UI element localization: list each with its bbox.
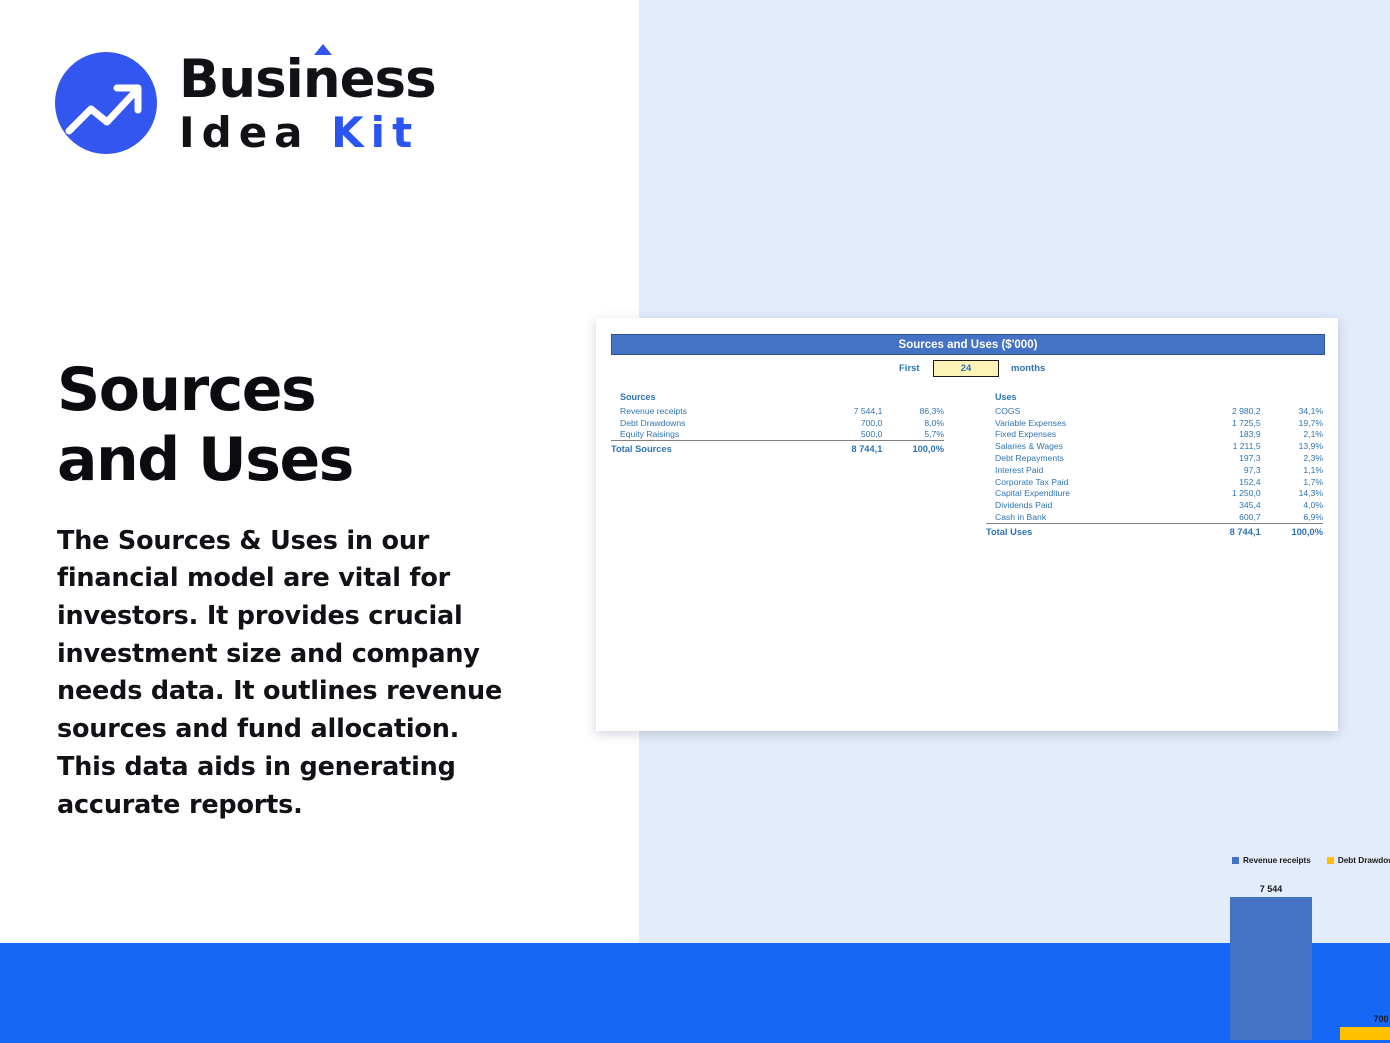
uses-row-9-value: 600,7 (1185, 511, 1260, 523)
sources-chart-legend: Revenue receiptsDebt DrawdownsEquity Rai… (1232, 856, 1390, 865)
uses-row-8-name: Dividends Paid (986, 499, 1185, 511)
brand-name-line2: Idea Kit (179, 112, 436, 154)
sources-row-2-value: 500,0 (808, 429, 883, 441)
table-row: Revenue receipts7 544,186,3% (611, 405, 944, 417)
uses-row-4-pct: 2,3% (1261, 452, 1323, 464)
page-title-line-2: and Uses (57, 426, 577, 496)
table-row: Cash in Bank600,76,9% (986, 511, 1323, 523)
period-selector-row: First 24 months (611, 360, 1323, 376)
uses-row-7-name: Capital Expenditure (986, 487, 1185, 499)
table-row: COGS2 980,234,1% (986, 405, 1323, 417)
sources-table-body: Revenue receipts7 544,186,3%Debt Drawdow… (611, 405, 944, 441)
uses-row-6-value: 152,4 (1185, 476, 1260, 488)
uses-row-1-pct: 19,7% (1261, 417, 1323, 429)
legend-swatch-icon (1327, 857, 1334, 864)
uses-row-6-pct: 1,7% (1261, 476, 1323, 488)
uptrend-arrow-icon (55, 52, 157, 154)
uses-row-0-name: COGS (986, 405, 1185, 417)
table-row: Salaries & Wages1 211,513,9% (986, 440, 1323, 452)
uses-row-9-name: Cash in Bank (986, 511, 1185, 523)
period-prefix-label: First (899, 363, 920, 374)
uses-row-3-name: Salaries & Wages (986, 440, 1185, 452)
uses-header-label: Uses (986, 392, 1185, 405)
uses-row-4-value: 197,3 (1185, 452, 1260, 464)
uses-row-2-value: 183,9 (1185, 429, 1260, 441)
page-title: Sourcesand Uses (57, 356, 577, 495)
slide-canvas: Business Idea Kit Sourcesand Uses The So… (0, 0, 1390, 1043)
uses-row-0-pct: 34,1% (1261, 405, 1323, 417)
sources-row-2-name: Equity Raisings (611, 429, 808, 441)
uses-row-1-value: 1 725,5 (1185, 417, 1260, 429)
bar-value-label: 7 544 (1260, 884, 1283, 894)
uses-row-6-name: Corporate Tax Paid (986, 476, 1185, 488)
table-row: Interest Paid97,31,1% (986, 464, 1323, 476)
uses-table: Uses COGS2 980,234,1%Variable Expenses1 … (986, 392, 1323, 538)
sources-bar-slot: 700 (1326, 878, 1390, 1040)
sources-row-0-name: Revenue receipts (611, 405, 808, 417)
sources-total-label: Total Sources (611, 441, 808, 455)
bottom-accent-band (0, 943, 1390, 1043)
sources-row-1-value: 700,0 (808, 417, 883, 429)
sources-total-pct: 100,0% (882, 441, 944, 455)
uses-row-2-pct: 2,1% (1261, 429, 1323, 441)
uses-row-7-pct: 14,3% (1261, 487, 1323, 499)
sources-bar-chart: 7 544700500 (1216, 878, 1390, 1040)
sources-legend-item[interactable]: Revenue receipts (1232, 856, 1311, 865)
sources-header-label: Sources (611, 392, 808, 405)
brand-name-idea: Idea (179, 108, 331, 157)
body-paragraph: The Sources & Uses in our financial mode… (57, 523, 507, 825)
legend-swatch-icon (1232, 857, 1239, 864)
table-row: Fixed Expenses183,92,1% (986, 429, 1323, 441)
uses-row-5-pct: 1,1% (1261, 464, 1323, 476)
sources-row-1-name: Debt Drawdowns (611, 417, 808, 429)
uses-total-row: Total Uses 8 744,1 100,0% (986, 523, 1323, 537)
bar-value-label: 700 (1373, 1014, 1388, 1024)
sources-row-2-pct: 5,7% (882, 429, 944, 441)
table-row: Debt Drawdowns700,08,0% (611, 417, 944, 429)
sources-total-value: 8 744,1 (808, 441, 883, 455)
page-title-line-1: Sources (57, 356, 577, 426)
uses-row-7-value: 1 250,0 (1185, 487, 1260, 499)
sheet-title-bar: Sources and Uses ($'000) (611, 334, 1325, 355)
table-row: Capital Expenditure1 250,014,3% (986, 487, 1323, 499)
uses-row-0-value: 2 980,2 (1185, 405, 1260, 417)
table-row: Debt Repayments197,32,3% (986, 452, 1323, 464)
legend-label: Revenue receipts (1243, 856, 1311, 865)
table-row: Corporate Tax Paid152,41,7% (986, 476, 1323, 488)
brand-name-line1: Business (179, 53, 436, 106)
sources-row-0-pct: 86,3% (882, 405, 944, 417)
uses-total-label: Total Uses (986, 523, 1185, 537)
uses-table-header-row: Uses (986, 392, 1323, 405)
spreadsheet-screenshot-card: Sources and Uses ($'000) First 24 months… (596, 318, 1338, 731)
legend-label: Debt Drawdowns (1338, 856, 1390, 865)
sources-table-header-row: Sources (611, 392, 944, 405)
period-suffix-label: months (1011, 363, 1045, 374)
uses-row-1-name: Variable Expenses (986, 417, 1185, 429)
uses-table-body: COGS2 980,234,1%Variable Expenses1 725,5… (986, 405, 1323, 523)
table-row: Equity Raisings500,05,7% (611, 429, 944, 441)
uses-row-3-pct: 13,9% (1261, 440, 1323, 452)
uses-row-5-name: Interest Paid (986, 464, 1185, 476)
brand-caret-icon (314, 44, 332, 55)
uses-row-8-value: 345,4 (1185, 499, 1260, 511)
uses-row-2-name: Fixed Expenses (986, 429, 1185, 441)
bar[interactable] (1340, 1027, 1390, 1040)
table-row: Dividends Paid345,44,0% (986, 499, 1323, 511)
uses-total-pct: 100,0% (1261, 523, 1323, 537)
sources-row-0-value: 7 544,1 (808, 405, 883, 417)
uses-total-value: 8 744,1 (1185, 523, 1260, 537)
bar[interactable] (1230, 897, 1311, 1040)
uses-row-4-name: Debt Repayments (986, 452, 1185, 464)
sources-total-row: Total Sources 8 744,1 100,0% (611, 441, 944, 455)
uses-row-9-pct: 6,9% (1261, 511, 1323, 523)
brand-logo: Business Idea Kit (55, 52, 436, 154)
uses-row-8-pct: 4,0% (1261, 499, 1323, 511)
sources-table: Sources Revenue receipts7 544,186,3%Debt… (611, 392, 944, 455)
uses-row-5-value: 97,3 (1185, 464, 1260, 476)
uses-row-3-value: 1 211,5 (1185, 440, 1260, 452)
months-input[interactable]: 24 (933, 360, 999, 377)
brand-name-line1-text: Business (179, 49, 436, 110)
sources-legend-item[interactable]: Debt Drawdowns (1327, 856, 1390, 865)
table-row: Variable Expenses1 725,519,7% (986, 417, 1323, 429)
sources-bar-slot: 7 544 (1216, 878, 1326, 1040)
brand-name-kit: Kit (331, 108, 419, 157)
sources-row-1-pct: 8,0% (882, 417, 944, 429)
